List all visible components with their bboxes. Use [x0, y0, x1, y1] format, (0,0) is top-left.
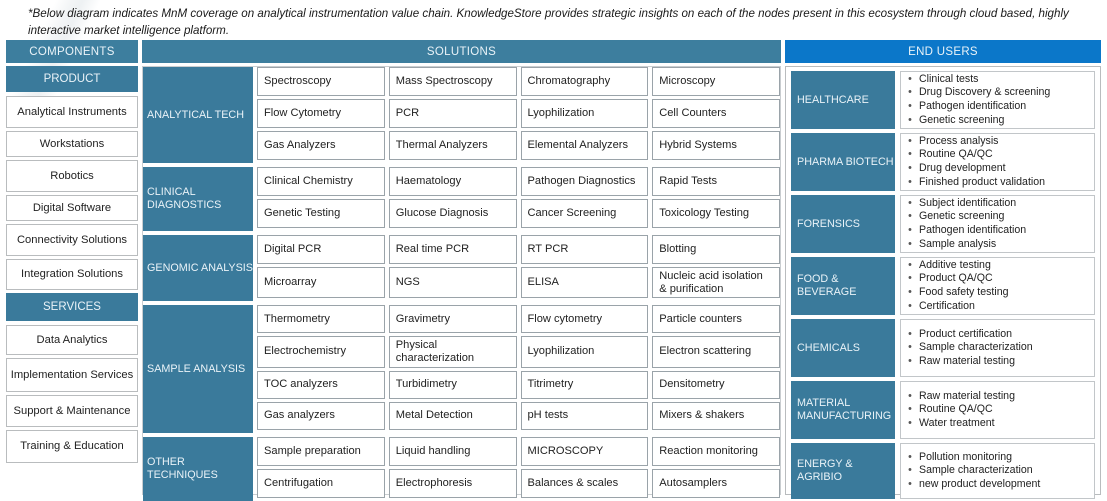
bullet-icon: •	[901, 197, 919, 211]
component-item[interactable]: Support & Maintenance	[6, 395, 138, 427]
end-user-benefit-list: •Process analysis •Routine QA/QC •Drug d…	[900, 133, 1095, 191]
solution-cell[interactable]: Sample preparation	[257, 437, 385, 466]
solutions-row: Digital PCR Real time PCR RT PCR Blottin…	[257, 235, 780, 264]
bullet-icon: •	[901, 224, 919, 238]
end-user-label[interactable]: HEALTHCARE	[791, 71, 895, 129]
solutions-cell-grid: Thermometry Gravimetry Flow cytometry Pa…	[253, 305, 780, 433]
solution-cell[interactable]: Microarray	[257, 267, 385, 298]
solutions-category-row: SAMPLE ANALYSIS Thermometry Gravimetry F…	[143, 305, 780, 433]
solution-cell[interactable]: Spectroscopy	[257, 67, 385, 96]
solution-cell[interactable]: NGS	[389, 267, 517, 298]
bullet-icon: •	[901, 328, 919, 342]
list-item: •Finished product validation	[901, 176, 1092, 190]
solution-cell[interactable]: Gas analyzers	[257, 402, 385, 430]
end-user-label[interactable]: FORENSICS	[791, 195, 895, 253]
bullet-icon: •	[901, 478, 919, 492]
bullet-icon: •	[901, 148, 919, 162]
bullet-icon: •	[901, 286, 919, 300]
solution-cell[interactable]: Cell Counters	[652, 99, 780, 128]
solutions-row: Spectroscopy Mass Spectroscopy Chromatog…	[257, 67, 780, 96]
value-chain-board: COMPONENTS SOLUTIONS END USERS PRODUCT A…	[6, 40, 1101, 495]
list-item-label: Subject identification	[919, 197, 1016, 211]
end-user-row: FOOD & BEVERAGE •Additive testing •Produ…	[791, 257, 1095, 315]
list-item: •Raw material testing	[901, 390, 1092, 404]
list-item: •Certification	[901, 300, 1092, 314]
solution-cell[interactable]: Particle counters	[652, 305, 780, 333]
bullet-icon: •	[901, 403, 919, 417]
bullet-icon: •	[901, 135, 919, 149]
list-item-label: Routine QA/QC	[919, 403, 993, 417]
solutions-row: Centrifugation Electrophoresis Balances …	[257, 469, 780, 498]
list-item: •Additive testing	[901, 259, 1092, 273]
solution-cell[interactable]: Lyophilization	[521, 99, 649, 128]
list-item-label: Water treatment	[919, 417, 995, 431]
list-item-label: Pollution monitoring	[919, 451, 1012, 465]
list-item: •Product certification	[901, 328, 1092, 342]
list-item: •Water treatment	[901, 417, 1092, 431]
solutions-row: Gas Analyzers Thermal Analyzers Elementa…	[257, 131, 780, 160]
solutions-row: Gas analyzers Metal Detection pH tests M…	[257, 402, 780, 430]
component-item[interactable]: Training & Education	[6, 430, 138, 463]
solution-cell[interactable]: Electron scattering	[652, 336, 780, 368]
solution-cell[interactable]: Gas Analyzers	[257, 131, 385, 160]
end-user-benefit-list: •Clinical tests •Drug Discovery & screen…	[900, 71, 1095, 129]
solution-cell[interactable]: Cancer Screening	[521, 199, 649, 228]
list-item-label: Pathogen identification	[919, 100, 1026, 114]
bullet-icon: •	[901, 176, 919, 190]
list-item: •Product QA/QC	[901, 272, 1092, 286]
solutions-cell-grid: Spectroscopy Mass Spectroscopy Chromatog…	[253, 67, 780, 163]
end-user-benefit-list: •Additive testing •Product QA/QC •Food s…	[900, 257, 1095, 315]
list-item-label: Clinical tests	[919, 73, 978, 87]
solution-cell[interactable]: Centrifugation	[257, 469, 385, 498]
diagram-note: *Below diagram indicates MnM coverage on…	[28, 6, 1093, 39]
list-item-label: Pathogen identification	[919, 224, 1026, 238]
header-solutions: SOLUTIONS	[142, 40, 781, 63]
solution-cell[interactable]: Haematology	[389, 167, 517, 196]
solution-cell[interactable]: PCR	[389, 99, 517, 128]
solution-cell[interactable]: Flow cytometry	[521, 305, 649, 333]
solution-cell[interactable]: Pathogen Diagnostics	[521, 167, 649, 196]
solutions-row: Microarray NGS ELISA Nucleic acid isolat…	[257, 267, 780, 298]
list-item: •Sample characterization	[901, 464, 1092, 478]
list-item-label: Finished product validation	[919, 176, 1045, 190]
bullet-icon: •	[901, 417, 919, 431]
solution-cell[interactable]: Digital PCR	[257, 235, 385, 264]
component-item[interactable]: Implementation Services	[6, 358, 138, 392]
list-item: •Subject identification	[901, 197, 1092, 211]
list-item: •Sample analysis	[901, 238, 1092, 252]
solution-cell[interactable]: Elemental Analyzers	[521, 131, 649, 160]
solution-cell[interactable]: Reaction monitoring	[652, 437, 780, 466]
list-item-label: new product development	[919, 478, 1040, 492]
list-item: •Clinical tests	[901, 73, 1092, 87]
list-item: •Pathogen identification	[901, 100, 1092, 114]
bullet-icon: •	[901, 355, 919, 369]
bullet-icon: •	[901, 73, 919, 87]
bullet-icon: •	[901, 451, 919, 465]
component-item[interactable]: Robotics	[6, 160, 138, 192]
solution-cell[interactable]: Hybrid Systems	[652, 131, 780, 160]
end-user-row: MATERIAL MANUFACTURING •Raw material tes…	[791, 381, 1095, 439]
end-user-benefit-list: •Product certification •Sample character…	[900, 319, 1095, 377]
end-user-row: PHARMA BIOTECH •Process analysis •Routin…	[791, 133, 1095, 191]
solutions-category-label[interactable]: OTHER TECHNIQUES	[143, 437, 253, 501]
list-item: •Genetic screening	[901, 114, 1092, 128]
solution-cell[interactable]: Turbidimetry	[389, 371, 517, 399]
component-item[interactable]: Workstations	[6, 131, 138, 157]
bullet-icon: •	[901, 210, 919, 224]
solution-cell[interactable]: Mass Spectroscopy	[389, 67, 517, 96]
end-user-benefit-list: •Pollution monitoring •Sample characteri…	[900, 443, 1095, 499]
solutions-category-row: ANALYTICAL TECH Spectroscopy Mass Spectr…	[143, 67, 780, 163]
solution-cell[interactable]: Nucleic acid isolation & purification	[652, 267, 780, 298]
solutions-row: Genetic Testing Glucose Diagnosis Cancer…	[257, 199, 780, 228]
list-item: •Process analysis	[901, 135, 1092, 149]
solution-cell[interactable]: Thermometry	[257, 305, 385, 333]
list-item-label: Raw material testing	[919, 390, 1015, 404]
list-item-label: Product QA/QC	[919, 272, 993, 286]
components-column: PRODUCT Analytical Instruments Workstati…	[6, 66, 138, 466]
solutions-cell-grid: Digital PCR Real time PCR RT PCR Blottin…	[253, 235, 780, 301]
solutions-category-label[interactable]: GENOMIC ANALYSIS	[143, 235, 253, 301]
solutions-panel: ANALYTICAL TECH Spectroscopy Mass Spectr…	[142, 66, 781, 495]
end-user-benefit-list: •Subject identification •Genetic screeni…	[900, 195, 1095, 253]
list-item-label: Food safety testing	[919, 286, 1009, 300]
solution-cell[interactable]: TOC analyzers	[257, 371, 385, 399]
list-item-label: Additive testing	[919, 259, 991, 273]
components-group-services[interactable]: SERVICES	[6, 293, 138, 321]
list-item: •Drug Discovery & screening	[901, 86, 1092, 100]
solutions-category-row: OTHER TECHNIQUES Sample preparation Liqu…	[143, 437, 780, 501]
solutions-row: Electrochemistry Physical characterizati…	[257, 336, 780, 368]
list-item-label: Sample analysis	[919, 238, 996, 252]
components-group-product[interactable]: PRODUCT	[6, 66, 138, 92]
solutions-category-row: CLINICAL DIAGNOSTICS Clinical Chemistry …	[143, 167, 780, 231]
solution-cell[interactable]: Liquid handling	[389, 437, 517, 466]
solution-cell[interactable]: Real time PCR	[389, 235, 517, 264]
solution-cell[interactable]: Physical characterization	[389, 336, 517, 368]
solutions-category-label[interactable]: ANALYTICAL TECH	[143, 67, 253, 163]
solutions-row: TOC analyzers Turbidimetry Titrimetry De…	[257, 371, 780, 399]
end-user-row: CHEMICALS •Product certification •Sample…	[791, 319, 1095, 377]
solution-cell[interactable]: Metal Detection	[389, 402, 517, 430]
list-item: •Pollution monitoring	[901, 451, 1092, 465]
solution-cell[interactable]: Blotting	[652, 235, 780, 264]
solution-cell[interactable]: Titrimetry	[521, 371, 649, 399]
list-item: •Raw material testing	[901, 355, 1092, 369]
list-item-label: Genetic screening	[919, 210, 1004, 224]
list-item-label: Process analysis	[919, 135, 998, 149]
list-item: •Drug development	[901, 162, 1092, 176]
end-user-row: HEALTHCARE •Clinical tests •Drug Discove…	[791, 71, 1095, 129]
list-item: •Genetic screening	[901, 210, 1092, 224]
solution-cell[interactable]: Flow Cytometry	[257, 99, 385, 128]
list-item: •Routine QA/QC	[901, 403, 1092, 417]
list-item-label: Drug Discovery & screening	[919, 86, 1050, 100]
list-item-label: Routine QA/QC	[919, 148, 993, 162]
bullet-icon: •	[901, 238, 919, 252]
end-user-label[interactable]: CHEMICALS	[791, 319, 895, 377]
bullet-icon: •	[901, 300, 919, 314]
list-item-label: Sample characterization	[919, 341, 1033, 355]
header-components: COMPONENTS	[6, 40, 138, 63]
end-user-label[interactable]: FOOD & BEVERAGE	[791, 257, 895, 315]
solution-cell[interactable]: Lyophilization	[521, 336, 649, 368]
end-user-row: FORENSICS •Subject identification •Genet…	[791, 195, 1095, 253]
bullet-icon: •	[901, 162, 919, 176]
component-item[interactable]: Analytical Instruments	[6, 96, 138, 128]
bullet-icon: •	[901, 86, 919, 100]
solution-cell[interactable]: Glucose Diagnosis	[389, 199, 517, 228]
solution-cell[interactable]: MICROSCOPY	[521, 437, 649, 466]
solution-cell[interactable]: Gravimetry	[389, 305, 517, 333]
list-item-label: Raw material testing	[919, 355, 1015, 369]
list-item-label: Drug development	[919, 162, 1006, 176]
solution-cell[interactable]: Microscopy	[652, 67, 780, 96]
solutions-cell-grid: Sample preparation Liquid handling MICRO…	[253, 437, 780, 501]
solution-cell[interactable]: Toxicology Testing	[652, 199, 780, 228]
solution-cell[interactable]: Densitometry	[652, 371, 780, 399]
solutions-category-row: GENOMIC ANALYSIS Digital PCR Real time P…	[143, 235, 780, 301]
solution-cell[interactable]: Electrochemistry	[257, 336, 385, 368]
bullet-icon: •	[901, 341, 919, 355]
solution-cell[interactable]: Thermal Analyzers	[389, 131, 517, 160]
solution-cell[interactable]: Balances & scales	[521, 469, 649, 498]
solution-cell[interactable]: Electrophoresis	[389, 469, 517, 498]
end-users-panel: HEALTHCARE •Clinical tests •Drug Discove…	[785, 66, 1101, 495]
end-user-label[interactable]: MATERIAL MANUFACTURING	[791, 381, 895, 439]
bullet-icon: •	[901, 259, 919, 273]
solution-cell[interactable]: ELISA	[521, 267, 649, 298]
list-item-label: Product certification	[919, 328, 1012, 342]
bullet-icon: •	[901, 114, 919, 128]
solution-cell[interactable]: Genetic Testing	[257, 199, 385, 228]
bullet-icon: •	[901, 272, 919, 286]
solution-cell[interactable]: pH tests	[521, 402, 649, 430]
bullet-icon: •	[901, 390, 919, 404]
end-user-label[interactable]: ENERGY & AGRIBIO	[791, 443, 895, 499]
list-item-label: Certification	[919, 300, 975, 314]
list-item: •Sample characterization	[901, 341, 1092, 355]
solution-cell[interactable]: Clinical Chemistry	[257, 167, 385, 196]
solutions-row: Flow Cytometry PCR Lyophilization Cell C…	[257, 99, 780, 128]
list-item-label: Genetic screening	[919, 114, 1004, 128]
solutions-category-label[interactable]: SAMPLE ANALYSIS	[143, 305, 253, 433]
component-item[interactable]: Integration Solutions	[6, 259, 138, 290]
solutions-row: Thermometry Gravimetry Flow cytometry Pa…	[257, 305, 780, 333]
component-item[interactable]: Connectivity Solutions	[6, 224, 138, 256]
solutions-row: Sample preparation Liquid handling MICRO…	[257, 437, 780, 466]
solution-cell[interactable]: Rapid Tests	[652, 167, 780, 196]
solution-cell[interactable]: RT PCR	[521, 235, 649, 264]
solution-cell[interactable]: Autosamplers	[652, 469, 780, 498]
bullet-icon: •	[901, 464, 919, 478]
bullet-icon: •	[901, 100, 919, 114]
header-end-users: END USERS	[785, 40, 1101, 63]
solutions-cell-grid: Clinical Chemistry Haematology Pathogen …	[253, 167, 780, 231]
list-item: •Routine QA/QC	[901, 148, 1092, 162]
solutions-row: Clinical Chemistry Haematology Pathogen …	[257, 167, 780, 196]
component-item[interactable]: Digital Software	[6, 195, 138, 221]
solutions-category-label[interactable]: CLINICAL DIAGNOSTICS	[143, 167, 253, 231]
end-user-label[interactable]: PHARMA BIOTECH	[791, 133, 895, 191]
solution-cell[interactable]: Chromatography	[521, 67, 649, 96]
list-item: • new product development	[901, 478, 1092, 492]
list-item-label: Sample characterization	[919, 464, 1033, 478]
end-user-benefit-list: •Raw material testing •Routine QA/QC •Wa…	[900, 381, 1095, 439]
list-item: •Pathogen identification	[901, 224, 1092, 238]
component-item[interactable]: Data Analytics	[6, 325, 138, 355]
end-user-row: ENERGY & AGRIBIO •Pollution monitoring •…	[791, 443, 1095, 499]
solution-cell[interactable]: Mixers & shakers	[652, 402, 780, 430]
list-item: •Food safety testing	[901, 286, 1092, 300]
